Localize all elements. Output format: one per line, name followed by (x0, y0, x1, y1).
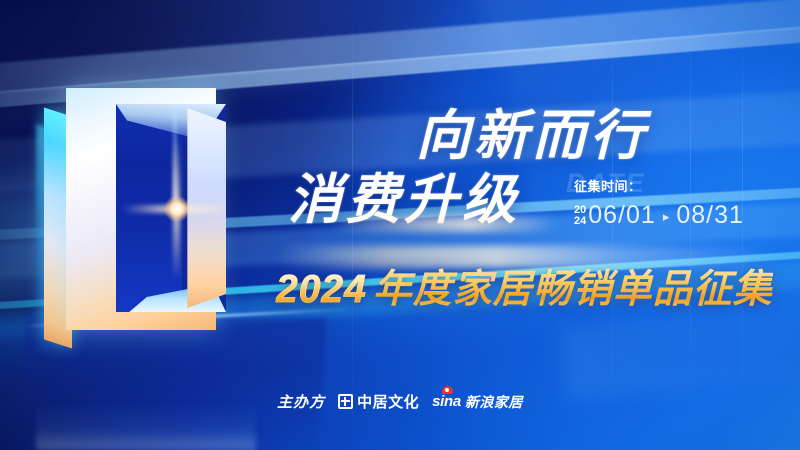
sponsor-logo-sina[interactable]: sina 新浪家居 (432, 392, 523, 412)
date-block: DATE 征集时间： 20 24 06/01 ▸ 08/31 (574, 176, 794, 230)
date-year-top: 20 (574, 205, 586, 215)
headline-flare (330, 216, 560, 232)
zhongju-mark-icon (338, 394, 353, 409)
subtitle-body: 年度家居畅销单品征集 (373, 268, 773, 311)
headline-line-1: 向新而行 (416, 108, 648, 165)
portal-door-graphic (36, 92, 256, 402)
star-burst-icon (164, 196, 190, 222)
subtitle-bar: 2024年度家居畅销单品征集 (276, 252, 776, 310)
date-label: 征集时间： (574, 176, 794, 195)
sina-cn-name: 新浪家居 (465, 392, 523, 412)
date-range-row: 20 24 06/01 ▸ 08/31 (574, 201, 794, 230)
sina-wordmark: sina (432, 393, 461, 410)
poster-canvas: 向新而行 消费升级 DATE 征集时间： 20 24 06/01 ▸ 08/31… (0, 0, 800, 450)
door-frame-front (66, 88, 216, 330)
date-start: 06/01 (588, 201, 656, 230)
date-year-stacked: 20 24 (574, 205, 586, 226)
sponsor-logo-zhongju[interactable]: 中居文化 (338, 391, 419, 412)
subtitle-text: 2024年度家居畅销单品征集 (276, 258, 773, 314)
date-end: 08/31 (676, 201, 744, 230)
door-aperture (116, 104, 226, 312)
sponsor-footer: 主办方 中居文化 sina 新浪家居 (0, 391, 800, 412)
date-separator-icon: ▸ (663, 209, 670, 225)
sina-eye-icon (442, 386, 453, 394)
subtitle-year: 2024 (276, 268, 367, 312)
date-year-bottom: 24 (574, 216, 586, 226)
zhongju-name: 中居文化 (357, 391, 419, 412)
sponsor-label: 主办方 (277, 391, 325, 412)
